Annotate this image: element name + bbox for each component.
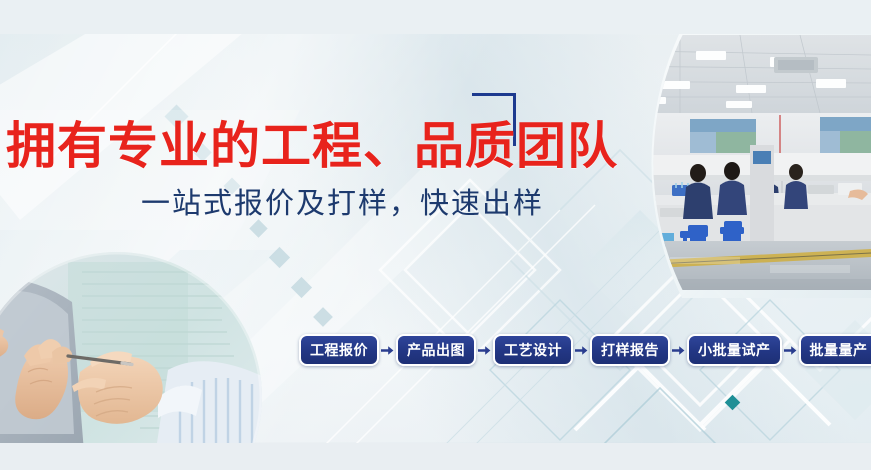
process-step-label: 工艺设计 bbox=[504, 340, 562, 360]
process-step-label: 产品出图 bbox=[407, 340, 465, 360]
top-strip bbox=[0, 0, 871, 34]
promotional-banner: 拥有专业的工程、品质团队 一站式报价及打样，快速出样 工程报价产品出图工艺设计打… bbox=[0, 0, 871, 470]
arrow-right-icon bbox=[670, 340, 687, 360]
process-flow: 工程报价产品出图工艺设计打样报告小批量试产批量量产 bbox=[299, 334, 871, 366]
process-step-6[interactable]: 批量量产 bbox=[799, 334, 871, 366]
process-step-label: 工程报价 bbox=[310, 340, 368, 360]
process-step-3[interactable]: 工艺设计 bbox=[493, 334, 573, 366]
process-step-label: 批量量产 bbox=[810, 340, 868, 360]
arrow-right-icon bbox=[782, 340, 799, 360]
page-title: 拥有专业的工程、品质团队 bbox=[6, 117, 618, 175]
page-subtitle: 一站式报价及打样，快速出样 bbox=[141, 186, 544, 222]
arrow-right-icon bbox=[379, 340, 396, 360]
arrow-right-icon bbox=[573, 340, 590, 360]
process-step-2[interactable]: 产品出图 bbox=[396, 334, 476, 366]
process-step-label: 打样报告 bbox=[601, 340, 659, 360]
process-step-5[interactable]: 小批量试产 bbox=[687, 334, 782, 366]
arrow-right-icon bbox=[476, 340, 493, 360]
bottom-strip bbox=[0, 443, 871, 470]
process-step-4[interactable]: 打样报告 bbox=[590, 334, 670, 366]
process-step-1[interactable]: 工程报价 bbox=[299, 334, 379, 366]
process-step-label: 小批量试产 bbox=[698, 340, 771, 360]
